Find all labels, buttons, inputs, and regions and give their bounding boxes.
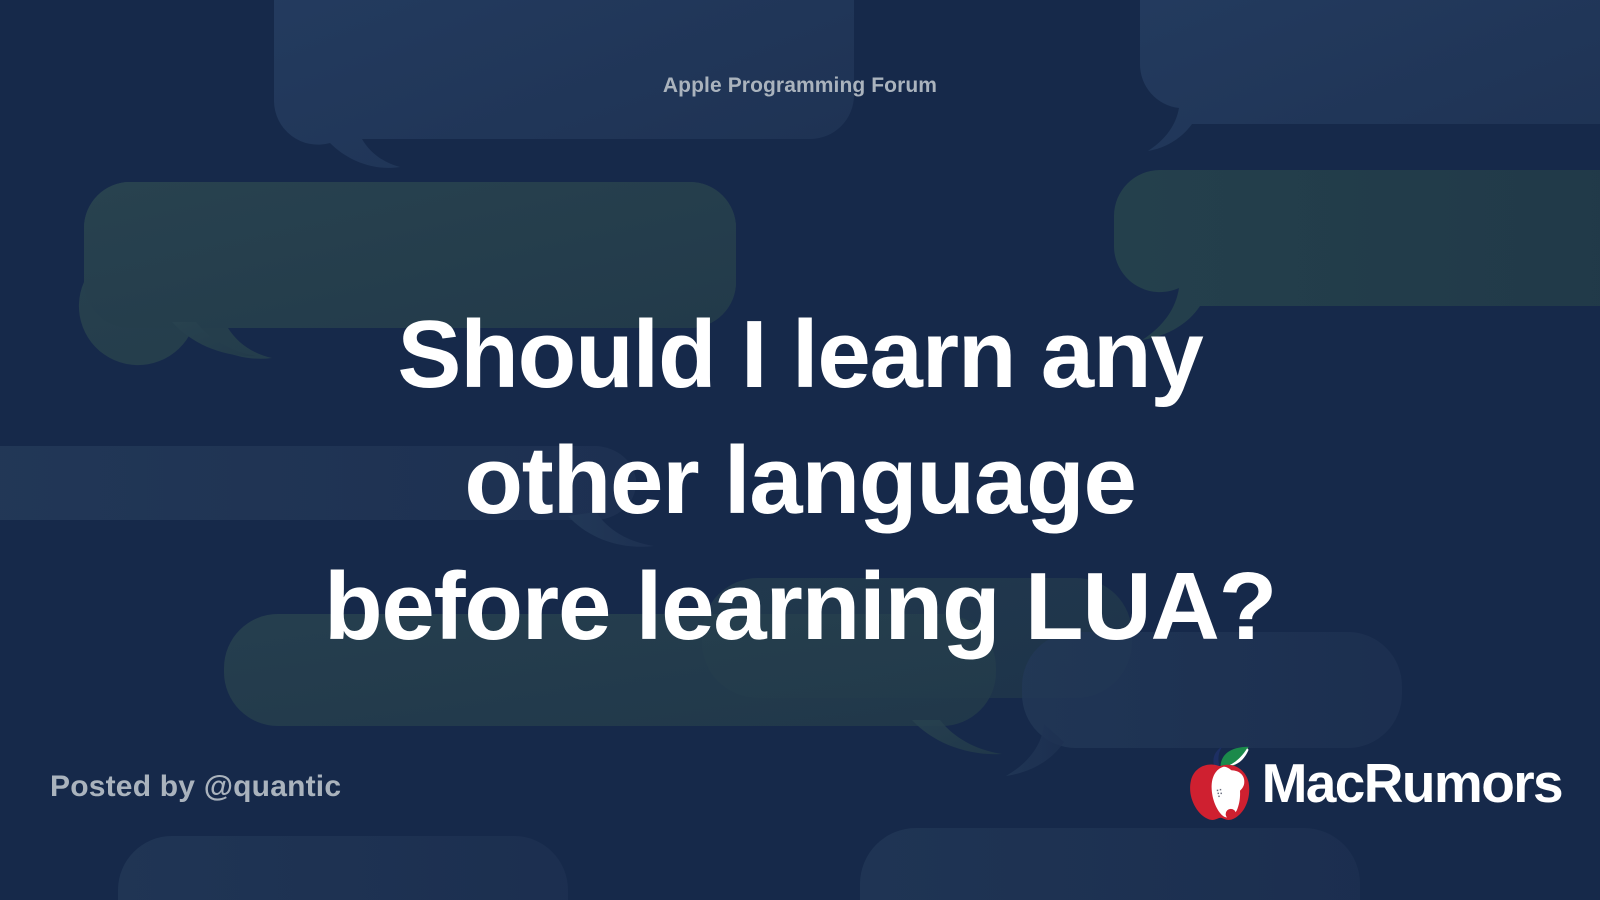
- macrumors-apple-icon: [1182, 742, 1256, 824]
- post-author-label: Posted by @quantic: [50, 770, 341, 804]
- page-title: Should I learn any other language before…: [110, 292, 1490, 669]
- macrumors-wordmark: MacRumors: [1262, 756, 1562, 811]
- bubble-bottom-left: [118, 836, 568, 900]
- forum-name-label: Apple Programming Forum: [0, 74, 1600, 98]
- bubble-bottom-right: [860, 828, 1360, 900]
- forum-share-card: Apple Programming Forum Should I learn a…: [0, 0, 1600, 900]
- macrumors-logo[interactable]: MacRumors: [1182, 742, 1562, 824]
